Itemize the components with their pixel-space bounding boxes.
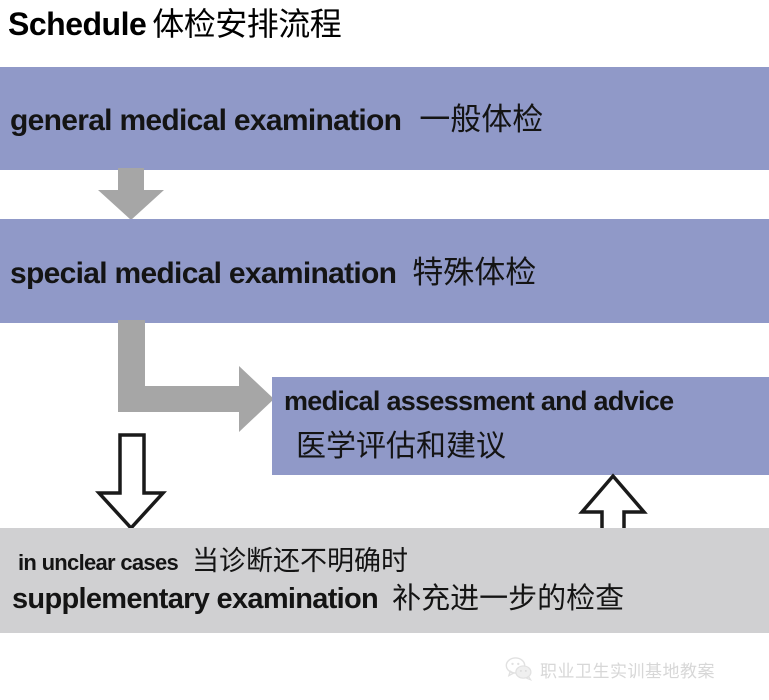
arrow-down-general-to-special-icon bbox=[98, 168, 164, 220]
flow-node-special-medical-examination: special medical examination特殊体检 bbox=[0, 219, 769, 323]
flow-node-general-label: general medical examination一般体检 bbox=[10, 94, 543, 139]
flow-node-supplementary-line1-cn: 当诊断还不明确时 bbox=[178, 546, 408, 577]
flow-node-special-label-cn: 特殊体检 bbox=[396, 255, 536, 291]
flow-node-supplementary-examination: in unclear cases当诊断还不明确时 supplementary e… bbox=[0, 528, 769, 633]
page-title-en: Schedule bbox=[8, 6, 146, 42]
flow-node-general-label-cn: 一般体检 bbox=[401, 102, 543, 138]
flow-node-supplementary-line1-en: in unclear cases bbox=[18, 550, 178, 575]
flow-node-general-medical-examination: general medical examination一般体检 bbox=[0, 67, 769, 170]
page-title-cn: 体检安排流程 bbox=[146, 5, 341, 43]
page-title: Schedule体检安排流程 bbox=[8, 2, 748, 48]
flow-node-supplementary-line1: in unclear cases当诊断还不明确时 bbox=[18, 539, 408, 578]
watermark-text: 职业卫生实训基地教案 bbox=[540, 657, 715, 682]
flow-node-supplementary-line2-cn: 补充进一步的检查 bbox=[378, 581, 624, 615]
flow-node-general-label-en: general medical examination bbox=[10, 104, 401, 137]
flow-node-medical-assessment-and-advice: medical assessment and advice 医学评估和建议 bbox=[272, 377, 769, 475]
arrow-down-special-to-supplementary-icon bbox=[98, 435, 164, 529]
flow-node-special-label-en: special medical examination bbox=[10, 257, 396, 290]
watermark: 职业卫生实训基地教案 bbox=[505, 652, 715, 686]
schedule-flow-diagram: Schedule体检安排流程 general medical examinati… bbox=[0, 0, 769, 700]
flow-node-assessment-label-en: medical assessment and advice bbox=[284, 386, 673, 417]
flow-node-assessment-label-cn: 医学评估和建议 bbox=[296, 421, 506, 465]
wechat-icon bbox=[505, 655, 533, 683]
arrow-elbow-special-to-assessment-icon bbox=[118, 320, 274, 438]
flow-node-supplementary-line2: supplementary examination补充进一步的检查 bbox=[12, 575, 624, 617]
arrow-up-supplementary-to-assessment-icon bbox=[581, 474, 645, 530]
flow-node-special-label: special medical examination特殊体检 bbox=[10, 247, 536, 292]
flow-node-supplementary-line2-en: supplementary examination bbox=[12, 583, 378, 615]
